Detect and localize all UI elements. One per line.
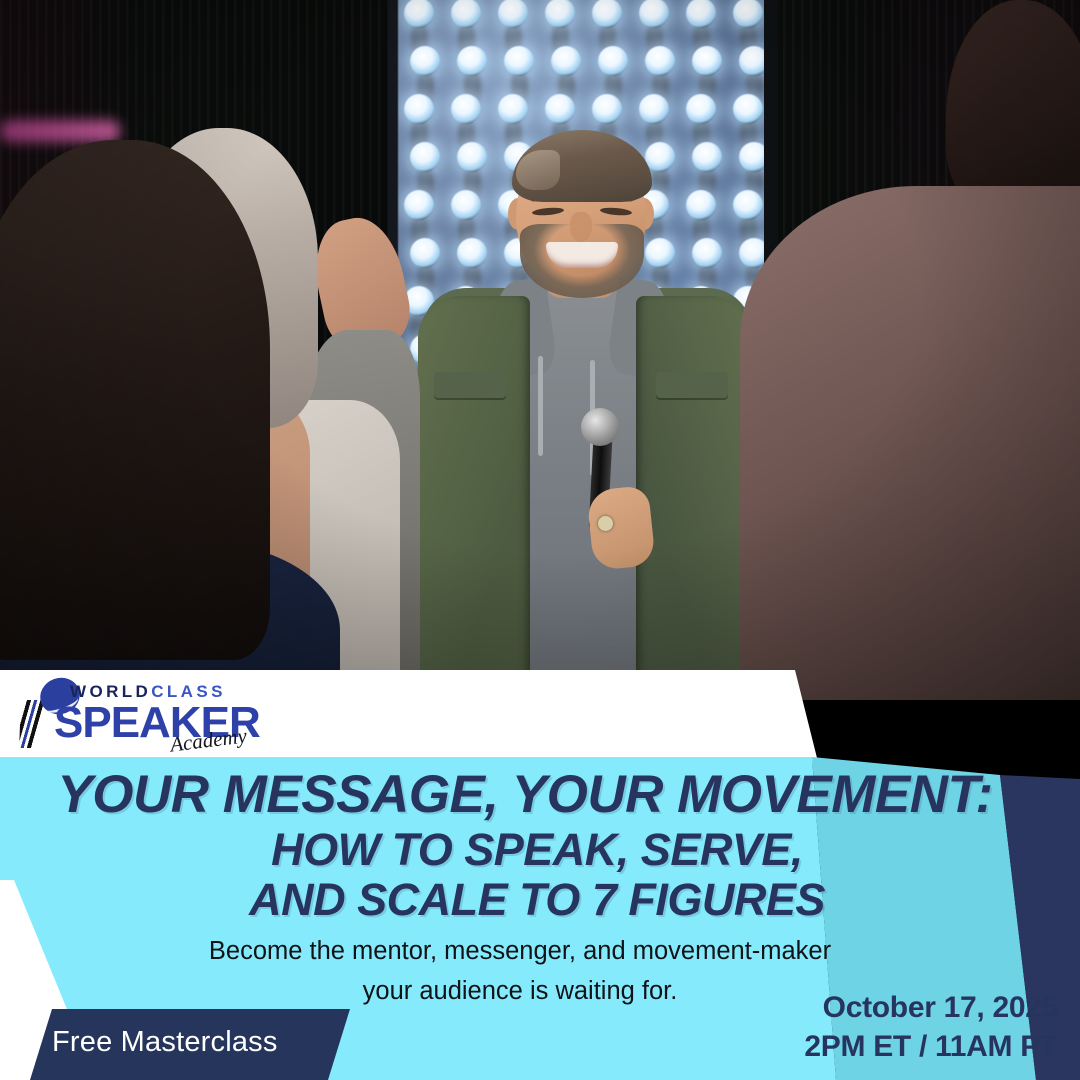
headline-line-3: AND SCALE TO 7 FIGURES — [0, 877, 1040, 923]
subheadline-line-1: Become the mentor, messenger, and moveme… — [0, 932, 1040, 972]
promo-graphic: WORLDCLASS SPEAKER Academy YOUR MESSAGE,… — [0, 0, 1080, 1080]
event-date: October 17, 2025 — [804, 988, 1058, 1027]
event-time: 2PM ET / 11AM PT — [804, 1027, 1058, 1066]
event-datetime: October 17, 2025 2PM ET / 11AM PT — [804, 988, 1058, 1066]
free-masterclass-label: Free Masterclass — [52, 1026, 278, 1059]
event-photo — [0, 0, 1080, 700]
headline-line-1: YOUR MESSAGE, YOUR MOVEMENT: — [0, 768, 1040, 822]
headline: YOUR MESSAGE, YOUR MOVEMENT: HOW TO SPEA… — [0, 768, 1040, 923]
photo-vignette — [0, 0, 1080, 700]
brand-logo: WORLDCLASS SPEAKER Academy — [18, 676, 248, 754]
headline-line-2: HOW TO SPEAK, SERVE, — [0, 827, 1040, 873]
